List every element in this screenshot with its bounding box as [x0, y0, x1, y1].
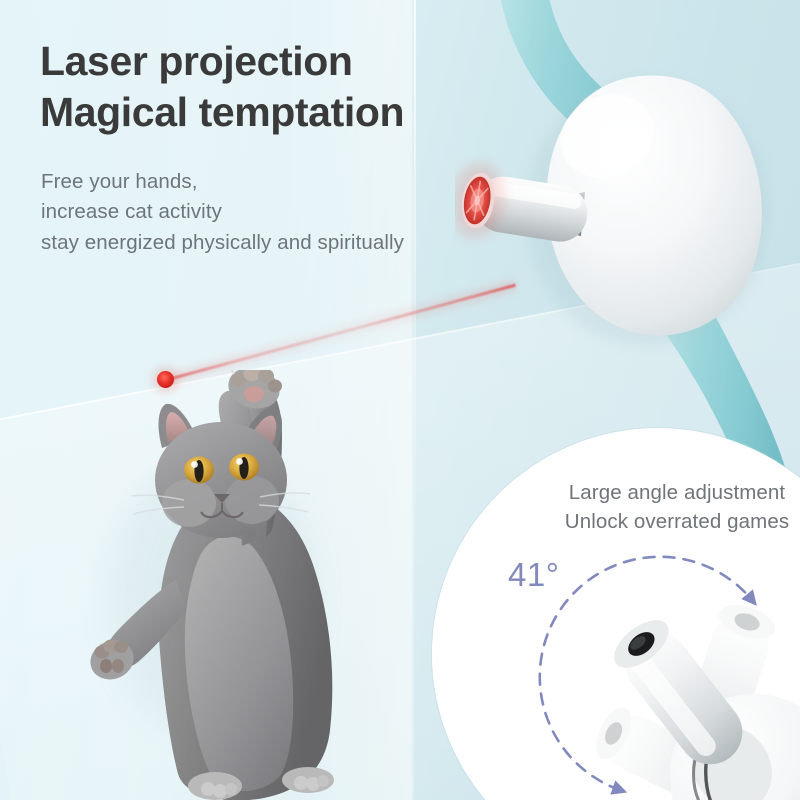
- product-banner: Laser projection Magical temptation Free…: [0, 0, 800, 800]
- cat-toe: [317, 775, 329, 787]
- laser-device: [455, 0, 800, 490]
- cat-toe: [201, 782, 215, 796]
- cat-cheek-left: [162, 479, 216, 527]
- cat-toe: [225, 783, 237, 795]
- cat-toe: [294, 776, 308, 790]
- cat-toe: [213, 784, 227, 798]
- cat-eye-right: [229, 454, 259, 481]
- subheadline: Free your hands, increase cat activity s…: [41, 167, 404, 258]
- inset-diagram: [432, 428, 800, 800]
- cat-eye-left: [184, 457, 214, 484]
- cat-illustration: [58, 370, 408, 800]
- angle-adjustment-inset: Large angle adjustment Unlock overrated …: [432, 428, 800, 800]
- headline: Laser projection Magical temptation: [40, 36, 404, 138]
